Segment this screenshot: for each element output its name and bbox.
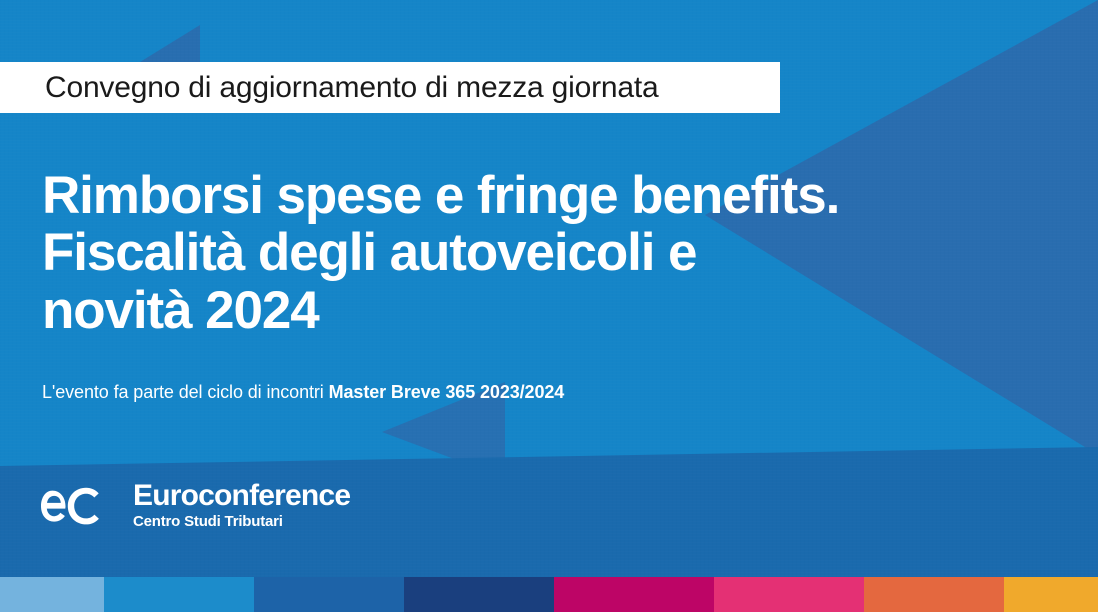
logo-title: Euroconference [133,481,350,512]
headline-line-3: novità 2024 [42,282,1052,340]
logo-wordmark: Euroconference Centro Studi Tributari [133,481,350,531]
color-swatch-navy [404,577,554,612]
color-swatch-orange [864,577,1004,612]
headline-line-2: Fiscalità degli autoveicoli e [42,224,1052,282]
kicker-strip: Convegno di aggiornamento di mezza giorn… [0,62,780,113]
brand-logo: Euroconference Centro Studi Tributari [41,481,350,531]
color-swatch-light-blue [0,577,104,612]
color-swatch-blue [104,577,254,612]
color-swatch-magenta [554,577,714,612]
color-swatch-amber [1004,577,1098,612]
kicker-text: Convegno di aggiornamento di mezza giorn… [0,73,658,103]
page-title: Rimborsi spese e fringe benefits. Fiscal… [42,167,1052,340]
color-swatch-pink [714,577,864,612]
color-swatch-medium-blue [254,577,404,612]
ec-monogram-icon [41,481,119,531]
color-bar [0,577,1098,612]
logo-subtitle: Centro Studi Tributari [133,513,350,531]
event-promo-banner: Convegno di aggiornamento di mezza giorn… [0,0,1098,612]
subtitle-highlight: Master Breve 365 2023/2024 [329,382,565,402]
subtitle-prefix: L'evento fa parte del ciclo di incontri [42,382,329,402]
subtitle: L'evento fa parte del ciclo di incontri … [42,382,564,404]
headline-line-1: Rimborsi spese e fringe benefits. [42,167,1052,225]
